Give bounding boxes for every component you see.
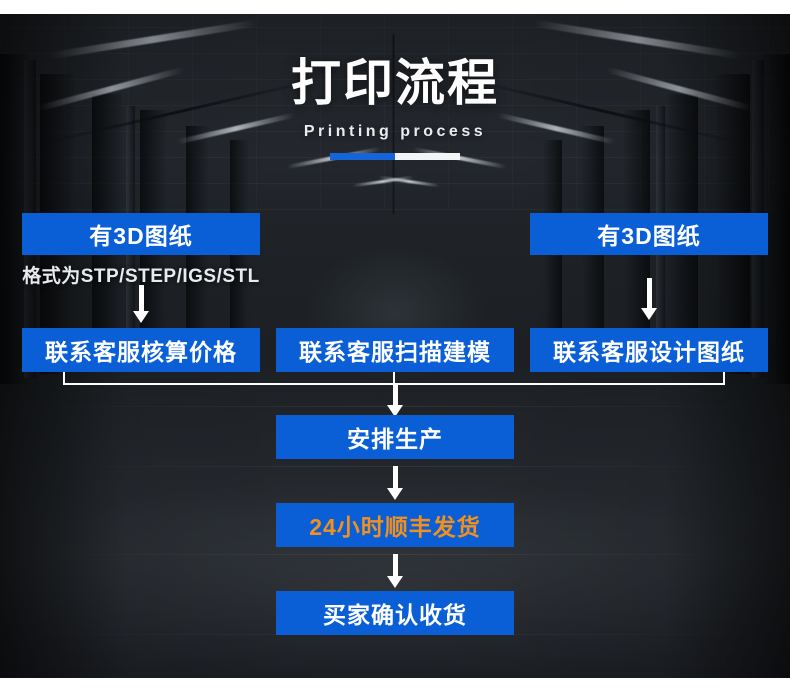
arrow-production-to-shipping <box>387 466 403 500</box>
page-title: 打印流程 <box>0 58 790 108</box>
arrow-right-top-to-mid <box>641 278 657 320</box>
printing-process-infographic: 打印流程 Printing process 有3D图纸 格式为STP/STEP/… <box>0 0 790 696</box>
flow-box-shipping[interactable]: 24小时顺丰发货 <box>276 503 514 547</box>
arrow-shipping-to-confirm <box>387 554 403 588</box>
flow-box-mid-right[interactable]: 联系客服设计图纸 <box>530 328 768 372</box>
merge-bracket <box>63 372 725 385</box>
flow-box-top-right[interactable]: 有3D图纸 <box>530 213 768 255</box>
flow-box-confirm-receipt[interactable]: 买家确认收货 <box>276 591 514 635</box>
flow-box-mid-center[interactable]: 联系客服扫描建模 <box>276 328 514 372</box>
page-subtitle: Printing process <box>0 124 790 140</box>
flow-box-production[interactable]: 安排生产 <box>276 415 514 459</box>
arrow-merge-to-production <box>387 385 403 417</box>
arrow-left-top-to-mid <box>133 285 149 323</box>
title-rule-blue <box>330 153 395 160</box>
flow-box-mid-left[interactable]: 联系客服核算价格 <box>22 328 260 372</box>
flow-caption-format: 格式为STP/STEP/IGS/STL <box>22 261 260 288</box>
flow-box-top-left[interactable]: 有3D图纸 <box>22 213 260 255</box>
title-rule-white <box>395 153 460 160</box>
